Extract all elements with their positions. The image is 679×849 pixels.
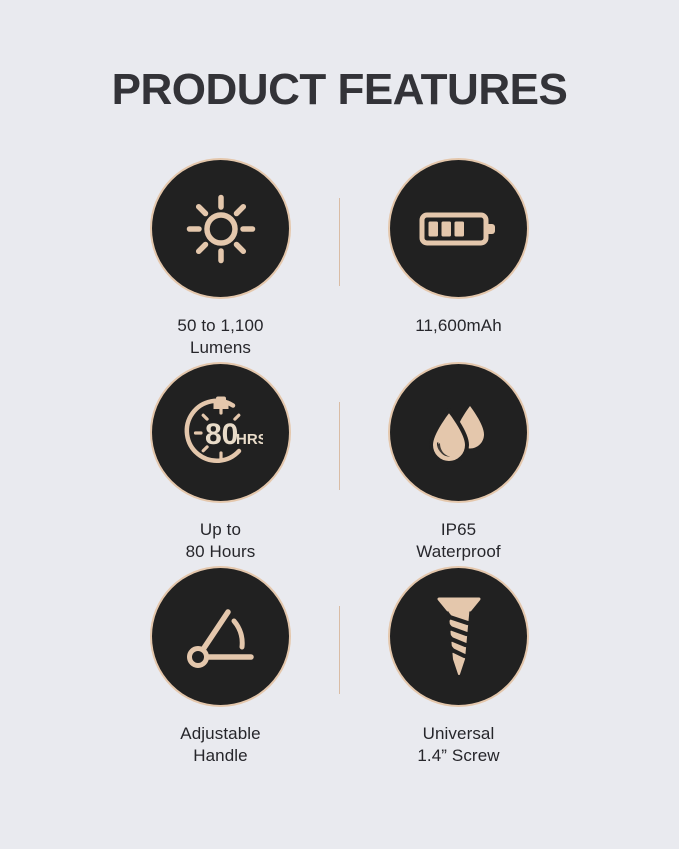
caption-line: Waterproof bbox=[416, 541, 500, 563]
feature-badge bbox=[152, 568, 289, 705]
caption-line: 1.4” Screw bbox=[417, 745, 499, 767]
feature-caption: Adjustable Handle bbox=[180, 723, 260, 767]
feature-badge bbox=[390, 364, 527, 501]
screw-icon bbox=[431, 594, 487, 680]
features-grid: 50 to 1,100 Lumens bbox=[0, 160, 679, 772]
product-features-infographic: PRODUCT FEATURES bbox=[0, 0, 679, 849]
column-divider bbox=[339, 606, 341, 694]
feature-caption: 50 to 1,100 Lumens bbox=[177, 315, 263, 359]
water-droplets-icon bbox=[423, 397, 495, 469]
feature-caption: IP65 Waterproof bbox=[416, 519, 500, 563]
caption-line: 80 Hours bbox=[186, 541, 256, 563]
feature-badge bbox=[390, 160, 527, 297]
feature-badge bbox=[152, 160, 289, 297]
column-divider bbox=[339, 402, 341, 490]
battery-icon bbox=[419, 205, 499, 253]
feature-item-screw: Universal 1.4” Screw bbox=[340, 568, 578, 767]
caption-line: 50 to 1,100 bbox=[177, 315, 263, 337]
feature-caption: 11,600mAh bbox=[415, 315, 502, 337]
feature-caption: Up to 80 Hours bbox=[186, 519, 256, 563]
column-divider bbox=[339, 198, 341, 286]
feature-item-waterproof: IP65 Waterproof bbox=[340, 364, 578, 563]
feature-item-runtime: 80 HRS Up to 80 Hours bbox=[102, 364, 340, 563]
stopwatch-value-text: 80 bbox=[205, 418, 238, 451]
page-title: PRODUCT FEATURES bbox=[0, 68, 679, 112]
feature-item-battery: 11,600mAh bbox=[340, 160, 578, 337]
caption-line: IP65 bbox=[416, 519, 500, 541]
caption-line: Up to bbox=[186, 519, 256, 541]
caption-line: Handle bbox=[180, 745, 260, 767]
feature-row: 80 HRS Up to 80 Hours bbox=[0, 364, 679, 568]
caption-line: Adjustable bbox=[180, 723, 260, 745]
sun-brightness-icon bbox=[185, 193, 257, 265]
caption-line: 11,600mAh bbox=[415, 315, 502, 337]
feature-badge: 80 HRS bbox=[152, 364, 289, 501]
feature-row: Adjustable Handle bbox=[0, 568, 679, 772]
stopwatch-unit-text: HRS bbox=[236, 431, 263, 448]
stopwatch-80hrs-icon: 80 HRS bbox=[179, 391, 263, 475]
caption-line: Universal bbox=[417, 723, 499, 745]
feature-item-lumens: 50 to 1,100 Lumens bbox=[102, 160, 340, 359]
adjustable-angle-icon bbox=[182, 603, 260, 671]
feature-badge bbox=[390, 568, 527, 705]
caption-line: Lumens bbox=[177, 337, 263, 359]
feature-item-handle: Adjustable Handle bbox=[102, 568, 340, 767]
feature-caption: Universal 1.4” Screw bbox=[417, 723, 499, 767]
feature-row: 50 to 1,100 Lumens bbox=[0, 160, 679, 364]
